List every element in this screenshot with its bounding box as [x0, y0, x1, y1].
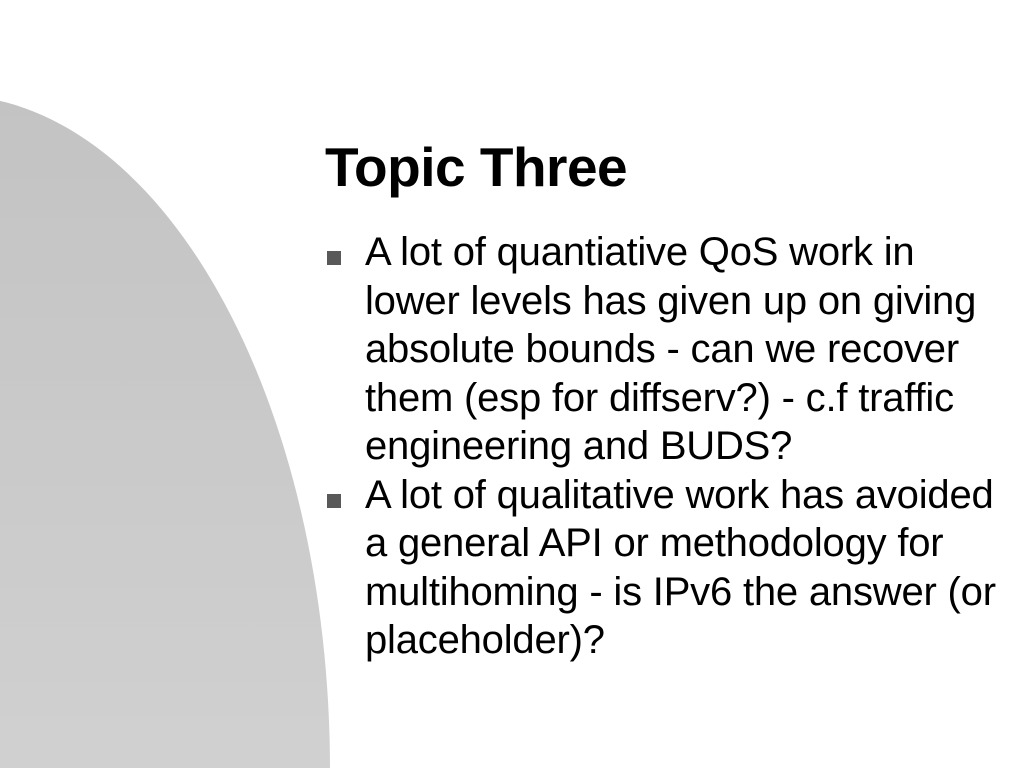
list-item-label: A lot of qualitative work has avoided a … [365, 471, 1005, 665]
presentation-slide: Topic Three A lot of quantiative QoS wor… [0, 0, 1024, 768]
list-item-label: A lot of quantiative QoS work in lower l… [365, 228, 1005, 471]
square-bullet-icon [327, 251, 341, 265]
square-bullet-icon [327, 494, 341, 508]
slide-content: Topic Three A lot of quantiative QoS wor… [0, 0, 1024, 768]
bullet-list: A lot of quantiative QoS work in lower l… [325, 228, 1005, 665]
page-title: Topic Three [325, 137, 985, 197]
list-item: A lot of qualitative work has avoided a … [325, 471, 1005, 665]
list-item: A lot of quantiative QoS work in lower l… [325, 228, 1005, 471]
